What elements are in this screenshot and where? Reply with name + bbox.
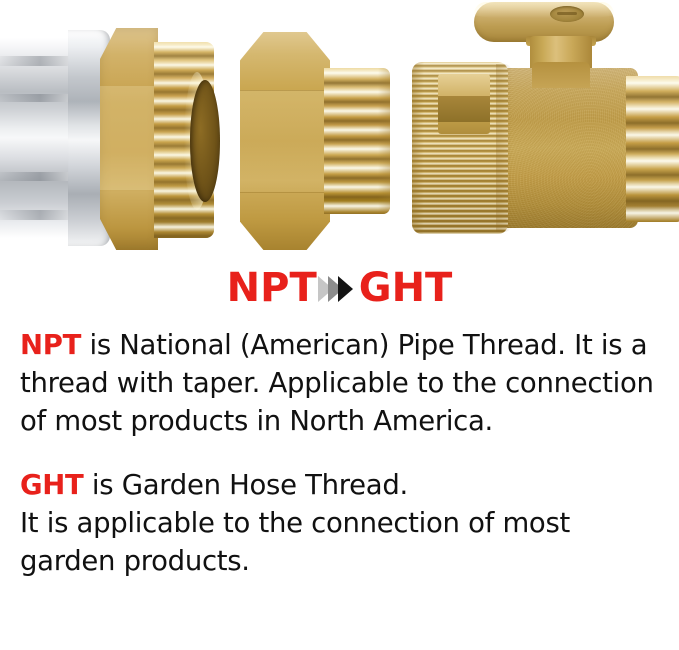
thread-ridges bbox=[626, 76, 679, 222]
hex-nut-facet bbox=[240, 90, 330, 192]
brass-hex-coupling bbox=[240, 32, 392, 250]
description-copy: NPT is National (American) Pipe Thread. … bbox=[20, 326, 672, 580]
paragraph-ght-text-line2: It is applicable to the connection of mo… bbox=[20, 507, 570, 577]
paragraph-ght: GHT is Garden Hose Thread.It is applicab… bbox=[20, 466, 672, 580]
brass-hose-bibb-valve bbox=[412, 0, 679, 252]
swivel-nut-rim bbox=[412, 62, 424, 234]
paragraph-ght-text: is Garden Hose Thread. bbox=[83, 469, 407, 501]
handle-screw-slot bbox=[557, 12, 577, 15]
keyword-ght: GHT bbox=[20, 469, 83, 501]
valve-handle-highlight bbox=[474, 2, 614, 18]
bore-opening bbox=[190, 80, 220, 202]
product-infographic: NPT GHT NPT is National (American) Pipe … bbox=[0, 0, 679, 650]
valve-neck bbox=[532, 62, 590, 88]
conversion-heading: NPT GHT bbox=[0, 262, 679, 314]
heading-right-word: GHT bbox=[359, 268, 453, 308]
chevron-right-icon bbox=[338, 276, 353, 302]
ght-male-thread bbox=[626, 76, 679, 222]
heading-left-word: NPT bbox=[227, 268, 317, 308]
swivel-nut-shadow bbox=[496, 64, 512, 232]
hex-nut-edge bbox=[240, 192, 330, 193]
chrome-pipe-with-npt-male-adapter bbox=[0, 28, 222, 250]
product-photo bbox=[0, 0, 679, 258]
hex-nut-edge bbox=[240, 90, 330, 91]
thread-end-cap bbox=[378, 68, 390, 214]
arrow-chevrons-icon bbox=[323, 276, 353, 302]
keyword-npt: NPT bbox=[20, 329, 81, 361]
paragraph-npt: NPT is National (American) Pipe Thread. … bbox=[20, 326, 672, 440]
paragraph-npt-text: is National (American) Pipe Thread. It i… bbox=[20, 329, 654, 437]
hex-nut-facet bbox=[100, 86, 158, 190]
male-thread bbox=[324, 68, 390, 214]
swivel-nut-shadow-face bbox=[438, 96, 490, 122]
